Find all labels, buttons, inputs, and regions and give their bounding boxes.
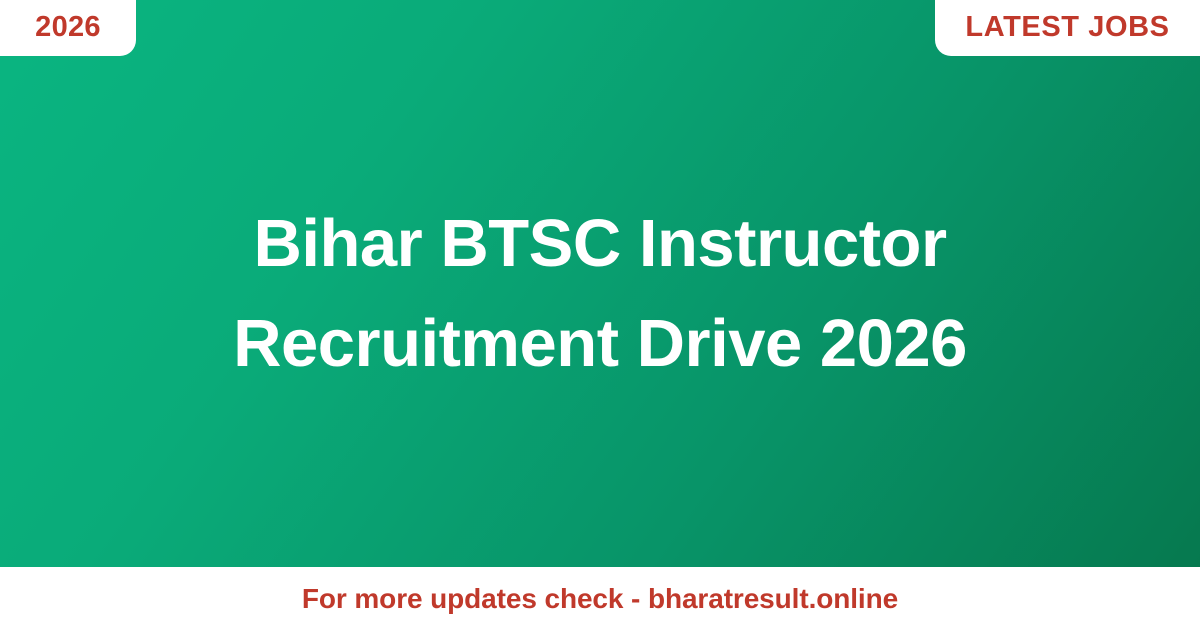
page-title: Bihar BTSC Instructor Recruitment Drive … — [120, 194, 1080, 392]
footer-bar: For more updates check - bharatresult.on… — [0, 567, 1200, 630]
footer-updates-text: For more updates check - bharatresult.on… — [302, 585, 898, 613]
hero-banner: 2026 LATEST JOBS Bihar BTSC Instructor R… — [0, 0, 1200, 567]
headline-container: Bihar BTSC Instructor Recruitment Drive … — [0, 0, 1200, 567]
promo-poster: 2026 LATEST JOBS Bihar BTSC Instructor R… — [0, 0, 1200, 630]
